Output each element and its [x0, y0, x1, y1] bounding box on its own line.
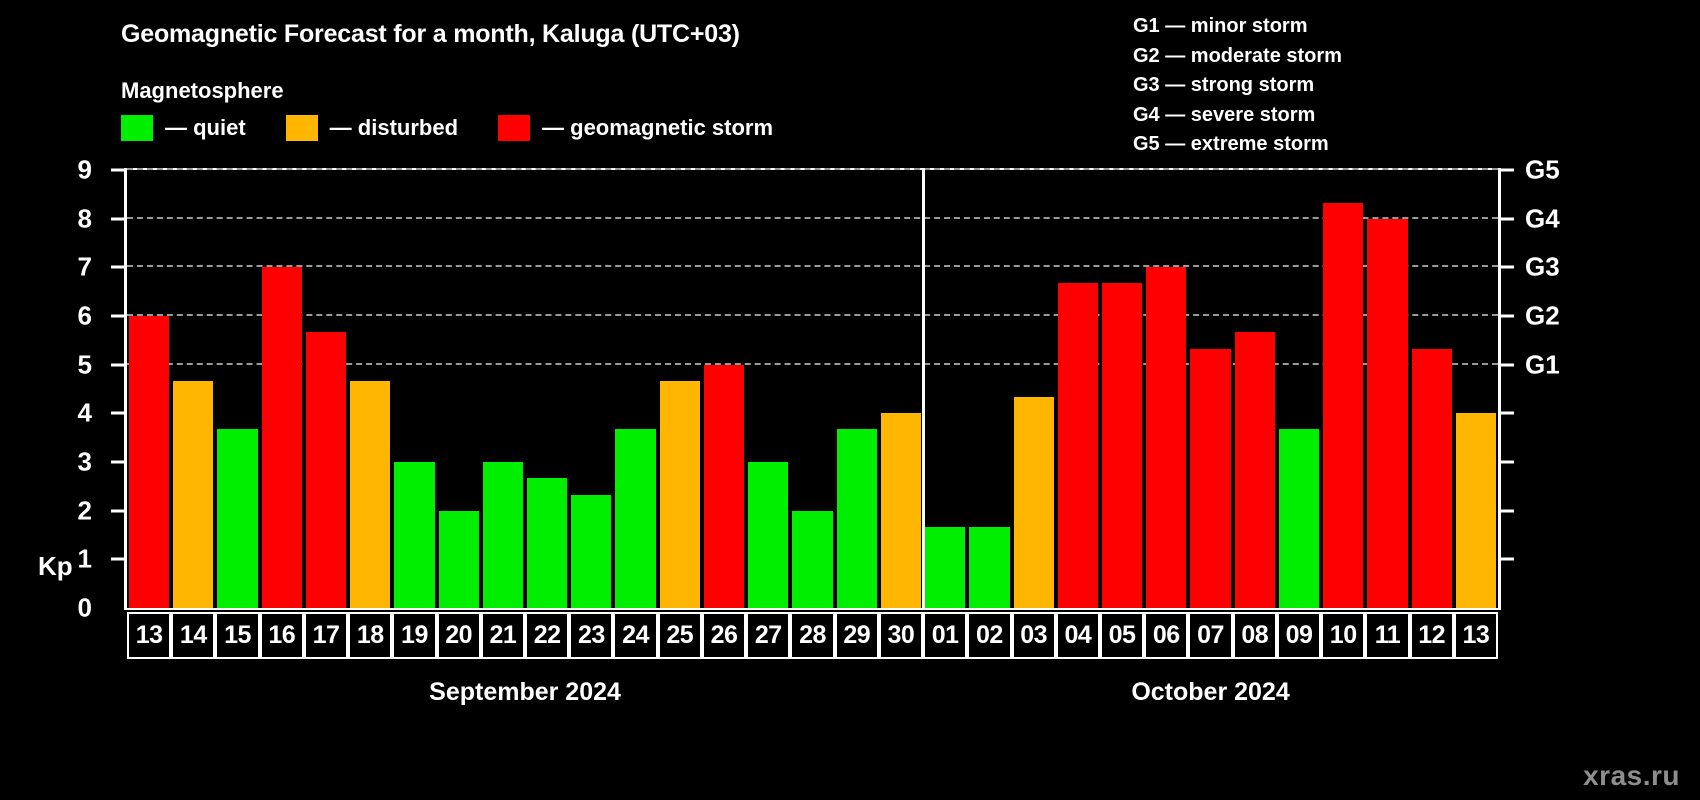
date-cell-0: 13 — [127, 612, 171, 659]
bar-28-15 — [792, 511, 832, 608]
month-caption-0: September 2024 — [429, 678, 621, 707]
y-axis-kp: Kp 0123456789 — [0, 168, 124, 610]
legend-swatch-disturbed — [286, 115, 318, 141]
date-cell-29: 12 — [1410, 612, 1454, 659]
date-cell-22: 05 — [1100, 612, 1144, 659]
date-cell-16: 29 — [835, 612, 879, 659]
ytick-label-kp-7: 7 — [78, 252, 92, 283]
ytick-mark-kp-6 — [111, 315, 124, 318]
gtick-mark-minor-kp-1 — [1501, 558, 1514, 561]
gtick-label-G3: G3 — [1525, 252, 1560, 283]
ytick-mark-kp-3 — [111, 461, 124, 464]
bar-04-21 — [1058, 283, 1098, 608]
ytick-label-kp-8: 8 — [78, 203, 92, 234]
bar-23-10 — [571, 495, 611, 608]
bar-15-2 — [217, 429, 257, 608]
ytick-mark-kp-2 — [111, 509, 124, 512]
ytick-label-kp-9: 9 — [78, 155, 92, 186]
gscale-legend: G1 — minor stormG2 — moderate stormG3 — … — [1133, 12, 1342, 160]
date-cell-23: 06 — [1144, 612, 1188, 659]
bars-layer — [127, 170, 1498, 608]
month-divider — [922, 168, 925, 610]
gtick-mark-minor-kp-3 — [1501, 461, 1514, 464]
gtick-label-G5: G5 — [1525, 155, 1560, 186]
ytick-label-kp-3: 3 — [78, 447, 92, 478]
gscale-legend-line-1: G1 — minor storm — [1133, 12, 1342, 42]
gtick-mark-G4 — [1501, 217, 1514, 220]
bar-06-23 — [1146, 267, 1186, 608]
bar-13-30 — [1456, 413, 1496, 608]
watermark: xras.ru — [1583, 760, 1680, 792]
bar-14-1 — [173, 381, 213, 608]
date-cell-5: 18 — [348, 612, 392, 659]
legend-items: — quiet— disturbed— geomagnetic storm — [121, 115, 813, 141]
legend-label-disturbed: — disturbed — [330, 115, 458, 141]
gscale-legend-line-5: G5 — extreme storm — [1133, 130, 1342, 160]
bar-10-27 — [1323, 203, 1363, 608]
bar-02-19 — [969, 527, 1009, 608]
bar-20-7 — [439, 511, 479, 608]
month-caption-1: October 2024 — [1131, 678, 1289, 707]
date-cell-15: 28 — [790, 612, 834, 659]
legend-label-geomagnetic-storm: — geomagnetic storm — [542, 115, 773, 141]
date-cell-28: 11 — [1365, 612, 1409, 659]
bar-25-12 — [660, 381, 700, 608]
plot-area — [124, 168, 1501, 610]
date-cell-21: 04 — [1056, 612, 1100, 659]
bar-30-17 — [881, 413, 921, 608]
date-cell-13: 26 — [702, 612, 746, 659]
date-cell-6: 19 — [392, 612, 436, 659]
date-cell-18: 01 — [923, 612, 967, 659]
date-cell-10: 23 — [569, 612, 613, 659]
gtick-mark-G1 — [1501, 363, 1514, 366]
gtick-label-G1: G1 — [1525, 349, 1560, 380]
gscale-legend-line-3: G3 — strong storm — [1133, 71, 1342, 101]
ytick-mark-kp-9 — [111, 169, 124, 172]
legend-heading: Magnetosphere — [121, 78, 813, 104]
ytick-label-kp-2: 2 — [78, 495, 92, 526]
date-cell-2: 15 — [215, 612, 259, 659]
bar-21-8 — [483, 462, 523, 608]
gtick-mark-G5 — [1501, 169, 1514, 172]
date-cell-20: 03 — [1012, 612, 1056, 659]
bar-09-26 — [1279, 429, 1319, 608]
bar-01-18 — [925, 527, 965, 608]
ytick-label-kp-6: 6 — [78, 301, 92, 332]
gtick-mark-minor-kp-4 — [1501, 412, 1514, 415]
bar-17-4 — [306, 332, 346, 608]
bar-27-14 — [748, 462, 788, 608]
x-axis-dates: 1314151617181920212223242526272829300102… — [124, 612, 1501, 659]
date-cell-1: 14 — [171, 612, 215, 659]
bar-26-13 — [704, 365, 744, 608]
bar-18-5 — [350, 381, 390, 608]
ytick-label-kp-0: 0 — [78, 593, 92, 624]
legend-item-geomagnetic-storm: — geomagnetic storm — [498, 115, 773, 141]
date-cell-25: 08 — [1233, 612, 1277, 659]
ytick-mark-kp-1 — [111, 558, 124, 561]
ytick-mark-kp-7 — [111, 266, 124, 269]
ytick-label-kp-4: 4 — [78, 398, 92, 429]
magnetosphere-legend: Magnetosphere — quiet— disturbed— geomag… — [121, 78, 813, 141]
date-cell-27: 10 — [1321, 612, 1365, 659]
gtick-label-G2: G2 — [1525, 301, 1560, 332]
date-cell-7: 20 — [437, 612, 481, 659]
gscale-legend-line-2: G2 — moderate storm — [1133, 42, 1342, 72]
date-cell-26: 09 — [1277, 612, 1321, 659]
y-axis-gscale: G1G2G3G4G5 — [1501, 168, 1700, 610]
legend-swatch-quiet — [121, 115, 153, 141]
legend-item-quiet: — quiet — [121, 115, 246, 141]
bar-05-22 — [1102, 283, 1142, 608]
ytick-label-kp-1: 1 — [78, 544, 92, 575]
bar-11-28 — [1367, 219, 1407, 608]
ytick-mark-kp-5 — [111, 363, 124, 366]
ytick-label-kp-5: 5 — [78, 349, 92, 380]
gtick-mark-G3 — [1501, 266, 1514, 269]
bar-24-11 — [615, 429, 655, 608]
bar-19-6 — [394, 462, 434, 608]
date-cell-24: 07 — [1188, 612, 1232, 659]
date-cell-8: 21 — [481, 612, 525, 659]
ytick-mark-kp-4 — [111, 412, 124, 415]
date-cell-19: 02 — [967, 612, 1011, 659]
page-title: Geomagnetic Forecast for a month, Kaluga… — [121, 20, 740, 49]
gscale-legend-line-4: G4 — severe storm — [1133, 101, 1342, 131]
y-axis-title: Kp — [38, 551, 73, 582]
gtick-mark-minor-kp-2 — [1501, 509, 1514, 512]
legend-item-disturbed: — disturbed — [286, 115, 458, 141]
date-cell-14: 27 — [746, 612, 790, 659]
date-cell-4: 17 — [304, 612, 348, 659]
bar-08-25 — [1235, 332, 1275, 608]
legend-swatch-geomagnetic-storm — [498, 115, 530, 141]
date-cell-12: 25 — [658, 612, 702, 659]
ytick-mark-kp-8 — [111, 217, 124, 220]
date-cell-17: 30 — [879, 612, 923, 659]
date-cell-30: 13 — [1454, 612, 1498, 659]
date-cell-9: 22 — [525, 612, 569, 659]
plot-inner — [127, 170, 1498, 608]
bar-29-16 — [837, 429, 877, 608]
bar-22-9 — [527, 478, 567, 608]
gtick-mark-G2 — [1501, 315, 1514, 318]
date-cell-11: 24 — [613, 612, 657, 659]
bar-13-0 — [129, 316, 169, 608]
date-cell-3: 16 — [260, 612, 304, 659]
bar-16-3 — [262, 267, 302, 608]
bar-07-24 — [1190, 349, 1230, 608]
bar-12-29 — [1412, 349, 1452, 608]
legend-label-quiet: — quiet — [165, 115, 246, 141]
bar-03-20 — [1014, 397, 1054, 608]
gtick-label-G4: G4 — [1525, 203, 1560, 234]
